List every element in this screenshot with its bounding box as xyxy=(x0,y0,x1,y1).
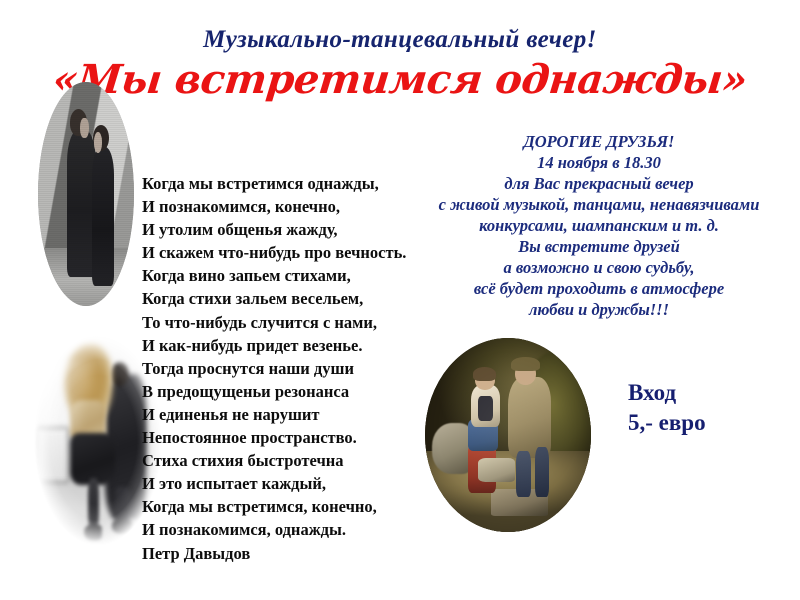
entrance-price: 5,- евро xyxy=(628,408,706,438)
poem-line: И единенья не нарушит xyxy=(142,403,442,426)
poem-line: Когда вино запьем стихами, xyxy=(142,264,442,287)
photo-film-grain xyxy=(38,82,134,306)
poem-line: И познакомимся, однажды. xyxy=(142,518,442,541)
poem-line: И познакомимся, конечно, xyxy=(142,195,442,218)
entrance-price-block: Вход 5,- евро xyxy=(628,378,706,438)
poem-line: Тогда проснутся наши души xyxy=(142,357,442,380)
poem-line: Когда мы встретимся однажды, xyxy=(142,172,442,195)
rustic-couple-painting xyxy=(425,338,591,532)
entrance-label: Вход xyxy=(628,378,706,408)
invitation-line: конкурсами, шампанским и т. д. xyxy=(398,215,800,236)
invitation-line: с живой музыкой, танцами, ненавязчивами xyxy=(398,194,800,215)
invitation-greeting: ДОРОГИЕ ДРУЗЬЯ! xyxy=(398,131,800,152)
poem-line: Непостоянное пространство. xyxy=(142,426,442,449)
invitation-line: для Вас прекрасный вечер xyxy=(398,173,800,194)
poem-line: Когда мы встретимся, конечно, xyxy=(142,495,442,518)
poem-line: И скажем что-нибудь про вечность. xyxy=(142,241,442,264)
invitation-block: ДОРОГИЕ ДРУЗЬЯ! 14 ноября в 18.30 для Ва… xyxy=(398,131,800,320)
poem-line: То что-нибудь случится с нами, xyxy=(142,311,442,334)
poster-subtitle-heading: Музыкально-танцевальный вечер! xyxy=(0,26,800,54)
poem-line: И это испытает каждый, xyxy=(142,472,442,495)
dancers-chair xyxy=(34,426,71,484)
dancers-woman-shoe xyxy=(84,525,102,542)
poem-line: Когда стихи зальем весельем, xyxy=(142,287,442,310)
invitation-line: любви и дружбы!!! xyxy=(398,299,800,320)
invitation-datetime: 14 ноября в 18.30 xyxy=(398,152,800,173)
poem-line: В предощущеньи резонанса xyxy=(142,380,442,403)
dancers-man-head xyxy=(111,362,129,386)
event-poster: Музыкально-танцевальный вечер! «Мы встре… xyxy=(0,0,800,600)
dancers-man-shoe xyxy=(112,520,133,534)
invitation-line: а возможно и свою судьбу, xyxy=(398,257,800,278)
invitation-line: всё будет проходить в атмосфере xyxy=(398,278,800,299)
couple-standing-photo xyxy=(38,82,134,306)
poem-line: И утолим общенья жажду, xyxy=(142,218,442,241)
poem-author: Петр Давыдов xyxy=(142,542,442,565)
invitation-line: Вы встретите друзей xyxy=(398,236,800,257)
poem-block: Когда мы встретимся однажды, И познакоми… xyxy=(142,172,442,565)
poem-line: И как-нибудь придет везенье. xyxy=(142,334,442,357)
painting-varnish-overlay xyxy=(425,338,591,532)
poem-line: Стиха стихия быстротечна xyxy=(142,449,442,472)
dancers-motion-blur-streak xyxy=(42,360,106,431)
